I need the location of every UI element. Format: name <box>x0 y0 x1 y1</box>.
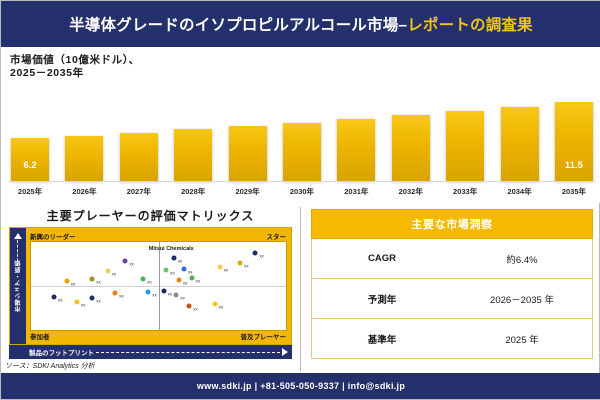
chart-x-axis-labels: 2025年2026年2027年2028年2029年2030年2031年2032年… <box>9 184 595 198</box>
matrix-data-point <box>146 290 151 295</box>
matrix-data-point-label: xx <box>152 293 157 298</box>
arrow-right-icon <box>282 348 288 356</box>
page-title: 半導体グレードのイソプロピルアルコール市場–レポートの調査果 <box>69 13 533 35</box>
matrix-data-point-label: xx <box>81 302 86 307</box>
matrix-data-point <box>182 267 187 272</box>
matrix-data-point-label: xx <box>119 294 124 299</box>
x-axis-tick-label: 2026年 <box>63 186 105 197</box>
insights-row-value: 2026－2035 年 <box>452 292 592 306</box>
player-matrix-panel: 主要プレーヤーの評価マトリックス 市場シェア・原価 新興のリーダー スター 参加… <box>1 203 300 375</box>
x-axis-tick-label: 2033年 <box>444 186 486 197</box>
bar: 6.2 <box>11 138 49 181</box>
page-title-accent: レポートの調査果 <box>407 17 533 34</box>
matrix-data-point <box>161 289 166 294</box>
matrix-data-point-label: xx <box>188 270 193 275</box>
bar <box>65 136 103 181</box>
insights-table-body: CAGR約6.4%予測年2026－2035 年基準年2025 年 <box>311 239 593 359</box>
matrix-data-point <box>187 304 192 309</box>
matrix-y-axis-text: 市場シェア・原価 <box>14 260 23 312</box>
matrix-data-point-label: xx <box>244 264 249 269</box>
x-axis-tick-label: 2031年 <box>335 186 377 197</box>
matrix-data-point <box>238 261 243 266</box>
matrix-data-point-label: xx <box>224 267 229 272</box>
matrix-data-point <box>90 296 95 301</box>
matrix-data-point-label: xx <box>219 305 224 310</box>
matrix-data-point <box>174 292 179 297</box>
matrix-data-point-label: xx <box>168 292 173 297</box>
matrix-title: 主要プレーヤーの評価マトリックス <box>1 207 300 224</box>
matrix-data-point <box>164 268 169 273</box>
matrix-data-point-label: xx <box>71 281 76 286</box>
matrix-data-point <box>90 276 95 281</box>
bar <box>501 107 539 181</box>
matrix-data-point <box>171 255 176 260</box>
bar-column: 11.5 <box>553 95 595 181</box>
bar-value-label: 6.2 <box>11 160 49 171</box>
matrix-scatter-plot: xxxxxxxxxxxxxxxxxxxxxxxxxxxxxxxxxxxxxxxx… <box>30 241 287 331</box>
x-axis-tick-label: 2032年 <box>390 186 432 197</box>
insights-row-value: 2025 年 <box>452 332 592 346</box>
matrix-data-point <box>217 264 222 269</box>
matrix-data-point-label: xx <box>193 307 198 312</box>
bar-column <box>499 95 541 181</box>
x-axis-tick-label: 2029年 <box>227 186 269 197</box>
quadrant-label-pervasive-player: 普及プレーヤー <box>241 331 287 341</box>
matrix-data-point-label: xx <box>147 279 152 284</box>
matrix-x-axis-label: 製品のフットプリント <box>29 347 94 357</box>
bar <box>283 123 321 181</box>
chart-plot-area: 6.211.5 <box>9 95 595 181</box>
insights-header-text: 主要な市場洞察 <box>411 216 492 232</box>
bar-column <box>335 95 377 181</box>
matrix-data-point-label: xx <box>96 279 101 284</box>
quadrant-label-participant: 参加者 <box>30 331 50 341</box>
matrix-data-point-label: xx <box>112 272 117 277</box>
x-axis-tick-label: 2035年 <box>553 186 595 197</box>
matrix-data-point <box>176 277 181 282</box>
matrix-data-point-label: xx <box>196 279 201 284</box>
matrix-vertical-divider <box>159 242 160 330</box>
matrix-data-point-label: xx <box>180 295 185 300</box>
matrix-data-point <box>212 302 217 307</box>
matrix-x-axis: 製品のフットプリント <box>9 345 292 359</box>
bar-value-label: 11.5 <box>555 160 593 171</box>
bar <box>392 115 430 181</box>
panel-divider <box>300 207 301 371</box>
x-axis-tick-label: 2025年 <box>9 186 51 197</box>
bar-column <box>172 95 214 181</box>
matrix-data-point-label: xx <box>58 297 63 302</box>
chart-title: 市場価値（10億米ドル）、 2025－2035年 <box>10 54 140 80</box>
bar-column: 6.2 <box>9 95 51 181</box>
matrix-data-point <box>253 250 258 255</box>
bar-column <box>118 95 160 181</box>
x-axis-tick-label: 2034年 <box>499 186 541 197</box>
bar <box>337 119 375 181</box>
page-title-main: 半導体グレードのイソプロピルアルコール市場– <box>69 17 407 34</box>
matrix-y-axis-band: 市場シェア・原価 <box>10 228 26 344</box>
matrix-data-point-label: xx <box>129 262 134 267</box>
bar <box>229 126 267 181</box>
bar-column <box>227 95 269 181</box>
matrix-data-point <box>74 299 79 304</box>
bar-column <box>281 95 323 181</box>
bar <box>120 133 158 181</box>
quadrant-label-emerging-leader: 新興のリーダー <box>30 231 76 241</box>
insights-table-row: 基準年2025 年 <box>311 319 593 359</box>
quadrant-label-star: スター <box>267 231 287 241</box>
insights-row-key: 基準年 <box>312 332 452 346</box>
matrix-data-point <box>105 269 110 274</box>
matrix-data-point <box>51 294 56 299</box>
infographic-page: 半導体グレードのイソプロピルアルコール市場–レポートの調査果 市場価値（10億米… <box>0 0 600 400</box>
key-market-insights-table: 主要な市場洞察 CAGR約6.4%予測年2026－2035 年基準年2025 年 <box>311 209 593 361</box>
matrix-data-point-label: xx <box>183 280 188 285</box>
matrix-data-point <box>64 278 69 283</box>
bar-column <box>444 95 486 181</box>
lower-section: 主要プレーヤーの評価マトリックス 市場シェア・原価 新興のリーダー スター 参加… <box>1 203 600 375</box>
x-axis-tick-label: 2028年 <box>172 186 214 197</box>
chart-axis-line <box>9 181 595 182</box>
footer-contact-text: www.sdki.jp | +81-505-050-9337 | info@sd… <box>197 381 405 391</box>
market-value-chart: 市場価値（10億米ドル）、 2025－2035年 6.211.5 2025年20… <box>1 47 600 203</box>
matrix-x-axis-dashes <box>96 352 280 353</box>
matrix-box: 市場シェア・原価 新興のリーダー スター 参加者 普及プレーヤー xxxxxxx… <box>9 227 292 345</box>
matrix-data-point <box>123 259 128 264</box>
insights-table-row: 予測年2026－2035 年 <box>311 279 593 319</box>
matrix-data-point-label: xx <box>96 299 101 304</box>
page-footer: www.sdki.jp | +81-505-050-9337 | info@sd… <box>1 373 600 399</box>
insights-table-header: 主要な市場洞察 <box>311 209 593 239</box>
matrix-data-point <box>113 291 118 296</box>
bar: 11.5 <box>555 102 593 181</box>
matrix-data-point <box>189 276 194 281</box>
source-note: ソース：SDKI Analytics 分析 <box>5 361 95 371</box>
matrix-data-point-label: xx <box>178 258 183 263</box>
bar <box>446 111 484 181</box>
insights-table-row: CAGR約6.4% <box>311 239 593 279</box>
bar <box>174 129 212 181</box>
insights-row-key: CAGR <box>312 253 452 264</box>
matrix-data-point-label: xx <box>259 253 264 258</box>
x-axis-tick-label: 2027年 <box>118 186 160 197</box>
matrix-company-label: Mitsui Chemicals <box>149 246 194 252</box>
matrix-data-point <box>141 276 146 281</box>
page-header: 半導体グレードのイソプロピルアルコール市場–レポートの調査果 <box>1 1 600 47</box>
bar-column <box>390 95 432 181</box>
insights-row-key: 予測年 <box>312 292 452 306</box>
matrix-y-axis-label: 市場シェア・原価 <box>10 228 26 344</box>
insights-row-value: 約6.4% <box>452 252 592 266</box>
matrix-data-point-label: xx <box>170 271 175 276</box>
bar-column <box>63 95 105 181</box>
x-axis-tick-label: 2030年 <box>281 186 323 197</box>
